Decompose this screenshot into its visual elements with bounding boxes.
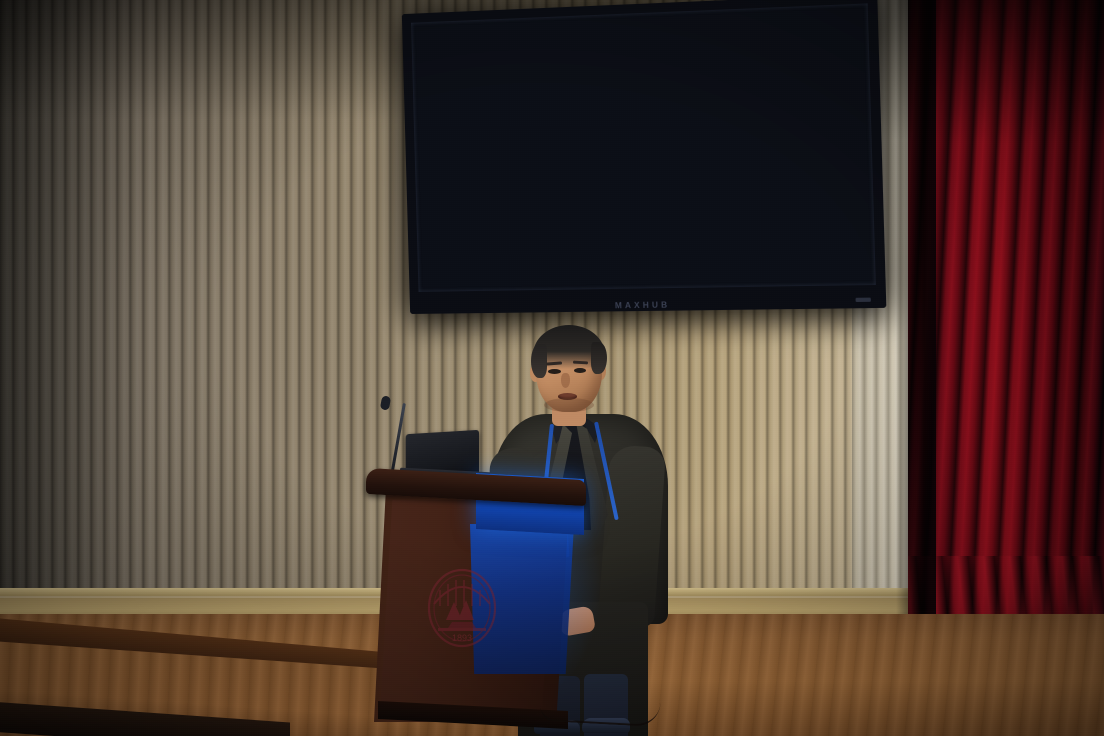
person-eye-right bbox=[574, 368, 586, 373]
person-eye-left bbox=[548, 369, 561, 374]
display-bezel bbox=[402, 0, 887, 314]
lecture-photo-scene: 萧萐父的“早期启蒙说” 与“新人学”的哲学观申论 吴根友 武汉大学哲学学院 MA… bbox=[0, 0, 1104, 736]
svg-text:1893: 1893 bbox=[452, 633, 472, 643]
person-hair-side-right bbox=[591, 342, 607, 374]
presentation-display[interactable]: 萧萐父的“早期启蒙说” 与“新人学”的哲学观申论 吴根友 武汉大学哲学学院 MA… bbox=[402, 0, 887, 314]
curtain-top-shadow bbox=[908, 0, 1104, 144]
person-chin-shadow bbox=[544, 398, 594, 412]
wuhan-university-emblem-icon: 1893 bbox=[420, 562, 504, 658]
display-ir-sensor bbox=[856, 298, 871, 302]
person-hair-side-left bbox=[531, 344, 547, 378]
person-nose bbox=[561, 373, 570, 388]
